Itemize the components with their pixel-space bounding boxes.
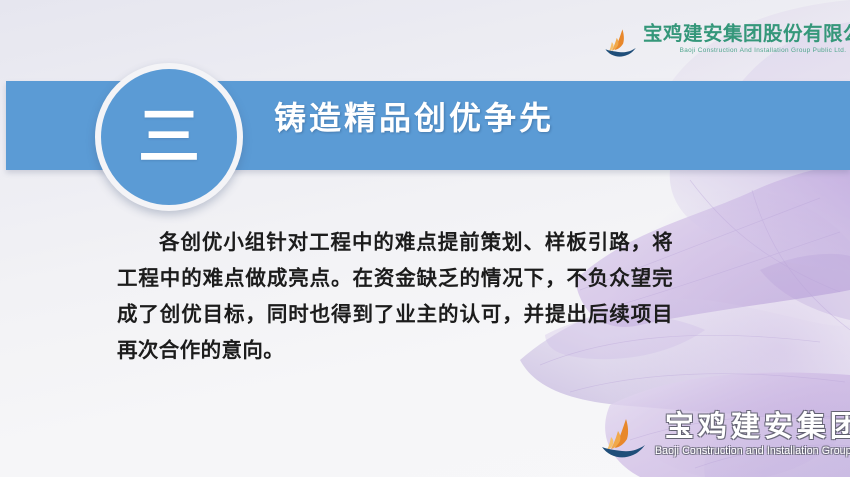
section-number-glyph: 三: [138, 106, 200, 168]
header-company-name-cn: 宝鸡建安集团股份有限公司: [643, 24, 850, 44]
footer-company-logo: 宝鸡建安集团 Baoji Construction and Installati…: [600, 412, 850, 470]
footer-company-name-cn: 宝鸡建安集团: [665, 412, 850, 443]
footer-logo-text: 宝鸡建安集团 Baoji Construction and Installati…: [655, 412, 850, 457]
sail-logo-mark-icon: [600, 417, 648, 461]
presentation-slide: 宝鸡建安集团股份有限公司 Baoji Construction And Inst…: [0, 0, 850, 477]
body-paragraph: 各创优小组针对工程中的难点提前策划、样板引路，将工程中的难点做成亮点。在资金缺乏…: [117, 224, 673, 368]
section-number-badge: 三: [95, 63, 243, 211]
footer-company-name-en: Baoji Construction and Installation Grou…: [655, 445, 850, 457]
header-company-logo: 宝鸡建安集团股份有限公司 Baoji Construction And Inst…: [604, 24, 844, 74]
section-title: 铸造精品创优争先: [274, 99, 554, 137]
header-logo-text: 宝鸡建安集团股份有限公司 Baoji Construction And Inst…: [643, 24, 850, 54]
header-company-name-en: Baoji Construction And Installation Grou…: [680, 48, 847, 55]
sail-logo-mark-icon: [604, 28, 638, 60]
